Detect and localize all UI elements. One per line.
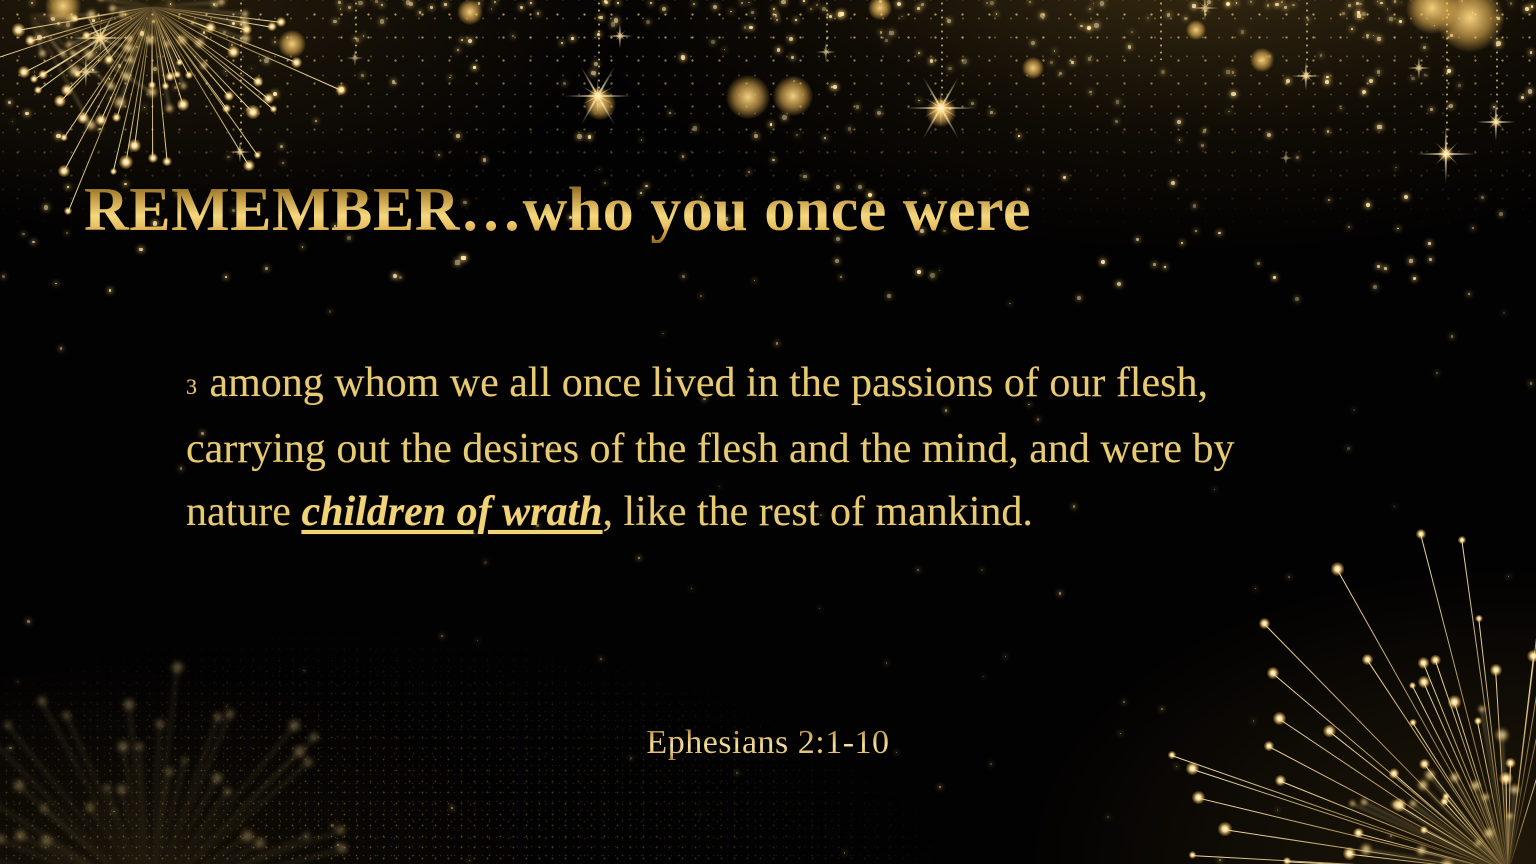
gold-particle: [776, 342, 779, 345]
gold-particle: [1428, 242, 1431, 245]
hanging-thread: [598, 0, 600, 96]
gold-particle: [1059, 72, 1062, 75]
gold-particle: [887, 294, 891, 298]
gold-particle: [101, 20, 102, 21]
gold-particle: [1472, 227, 1474, 229]
gold-particle: [810, 8, 812, 10]
hanging-thread: [1496, 0, 1498, 120]
gold-particle: [174, 86, 177, 89]
gold-particle: [981, 569, 983, 571]
gold-particle: [1179, 139, 1181, 141]
gold-particle: [617, 2, 619, 4]
gold-particle: [231, 44, 233, 46]
gold-particle: [461, 39, 463, 41]
gold-particle: [520, 6, 523, 9]
gold-particle: [274, 41, 276, 43]
gold-particle: [819, 608, 820, 609]
gold-particle: [599, 169, 600, 170]
gold-particle: [1292, 4, 1294, 6]
gold-particle: [1257, 262, 1260, 265]
gold-particle: [646, 20, 650, 24]
gold-particle: [2, 275, 5, 278]
gold-particle: [840, 276, 841, 277]
gold-particle: [1054, 50, 1056, 52]
gold-particle: [1268, 55, 1271, 58]
gold-particle: [741, 2, 743, 4]
bokeh-glow-icon: [773, 76, 813, 116]
bokeh-glow-icon: [278, 30, 306, 58]
gold-particle: [730, 11, 732, 13]
gold-particle: [1531, 5, 1534, 8]
gold-particle: [353, 38, 354, 39]
bokeh-glow-icon: [926, 97, 956, 127]
gold-particle: [153, 67, 157, 71]
gold-particle: [693, 126, 697, 130]
gold-particle: [1384, 267, 1387, 270]
gold-particle: [170, 3, 172, 5]
gold-particle: [1080, 25, 1083, 28]
gold-particle: [1161, 70, 1165, 74]
gold-particle: [1413, 277, 1416, 280]
gold-particle: [1411, 77, 1415, 81]
gold-particle: [1430, 108, 1432, 110]
gold-particle: [329, 310, 332, 313]
gold-particle: [180, 467, 183, 470]
gold-particle: [597, 33, 600, 36]
gold-particle: [700, 295, 703, 298]
gold-particle: [1373, 35, 1374, 36]
gold-particle: [897, 2, 901, 6]
gold-particle: [340, 8, 342, 10]
gold-particle: [917, 569, 919, 571]
verse-highlight-children-of-wrath: children of wrath: [301, 489, 602, 535]
gold-particle: [1219, 859, 1222, 862]
gold-particle: [1434, 25, 1435, 26]
hanging-thread: [240, 0, 242, 150]
bokeh-glow-icon: [1186, 20, 1206, 40]
gold-particle: [333, 20, 336, 23]
gold-particle: [226, 706, 227, 707]
gold-particle: [113, 811, 115, 813]
gold-particle: [1147, 17, 1149, 19]
gold-particle: [399, 276, 402, 279]
gold-particle: [650, 2, 652, 4]
hanging-thread: [1306, 0, 1308, 74]
gold-particle: [996, 13, 998, 15]
gold-particle: [962, 59, 966, 63]
gold-particle: [886, 662, 887, 663]
gold-particle: [1184, 17, 1187, 20]
gold-particle: [1380, 2, 1382, 4]
gold-particle: [1050, 61, 1052, 63]
gold-particle: [1255, 588, 1256, 589]
gold-particle: [773, 8, 775, 10]
gold-particle: [227, 156, 230, 159]
gold-particle: [563, 82, 566, 85]
gold-particle: [491, 8, 493, 10]
presentation-slide: REMEMBER…who you once were 3 among whom …: [0, 0, 1536, 864]
gold-particle: [1377, 37, 1382, 42]
gold-particle: [1201, 144, 1204, 147]
gold-particle: [1521, 96, 1524, 99]
gold-particle: [885, 39, 888, 42]
gold-particle: [1503, 312, 1505, 314]
gold-particle: [990, 763, 993, 766]
gold-particle: [795, 19, 797, 21]
gold-particle: [638, 557, 640, 559]
hanging-thread: [826, 0, 828, 52]
gold-particle: [67, 186, 69, 188]
gold-particle: [1429, 258, 1432, 261]
gold-particle: [1348, 226, 1350, 228]
gold-particle: [451, 807, 453, 809]
gold-particle: [614, 18, 618, 22]
gold-particle: [990, 111, 993, 114]
gold-particle: [265, 267, 268, 270]
gold-particle: [56, 134, 60, 138]
gold-particle: [1377, 70, 1380, 73]
gold-particle: [749, 26, 753, 30]
gold-particle: [921, 3, 924, 6]
gold-particle: [1192, 4, 1195, 7]
gold-particle: [880, 31, 882, 33]
gold-particle: [803, 0, 805, 2]
bokeh-glow-icon: [1436, 0, 1504, 52]
gold-particle: [55, 283, 57, 285]
gold-particle: [1009, 303, 1011, 305]
gold-particle: [1525, 7, 1529, 11]
gold-particle: [594, 62, 598, 66]
gold-particle: [1508, 576, 1509, 577]
gold-particle: [682, 155, 685, 158]
gold-particle: [444, 3, 447, 6]
gold-particle: [44, 205, 48, 209]
gold-particle: [125, 14, 126, 15]
gold-particle: [1101, 260, 1105, 264]
gold-particle: [669, 112, 672, 115]
gold-particle: [1087, 26, 1091, 30]
gold-particle: [789, 37, 794, 42]
gold-particle: [744, 26, 747, 29]
gold-particle: [1176, 766, 1178, 768]
gold-particle: [1203, 129, 1207, 133]
gold-particle: [57, 22, 60, 25]
gold-particle: [793, 80, 796, 83]
gold-particle: [1128, 45, 1132, 49]
gold-particle: [682, 275, 685, 278]
gold-particle: [1451, 335, 1453, 337]
gold-particle: [1100, 1, 1104, 5]
gold-particle: [1528, 89, 1533, 94]
gold-particle: [1228, 111, 1230, 113]
gold-particle: [1089, 91, 1092, 94]
gold-particle: [60, 347, 63, 350]
gold-particle: [530, 2, 532, 4]
gold-particle: [484, 561, 487, 564]
hanging-thread: [1446, 0, 1448, 152]
gold-particle: [1218, 232, 1221, 235]
gold-particle: [918, 100, 920, 102]
gold-particle: [1328, 199, 1330, 201]
hanging-thread: [941, 0, 943, 106]
gold-particle: [1424, 74, 1426, 76]
gold-particle: [468, 39, 472, 43]
gold-particle: [838, 12, 843, 17]
gold-particle: [109, 289, 112, 292]
gold-particle: [225, 71, 226, 72]
gold-particle: [1281, 1, 1283, 3]
gold-particle: [774, 14, 775, 15]
gold-particle: [1530, 382, 1533, 385]
gold-particle: [833, 85, 837, 89]
gold-particle: [1031, 41, 1035, 45]
gold-particle: [1288, 576, 1290, 578]
gold-particle: [781, 0, 785, 4]
gold-particle: [754, 280, 755, 281]
gold-particle: [776, 19, 778, 21]
gold-particle: [381, 4, 383, 6]
gold-particle: [604, 0, 607, 3]
gold-particle: [140, 31, 144, 35]
gold-particle: [213, 3, 216, 6]
gold-particle: [457, 49, 459, 51]
scripture-citation: Ephesians 2:1-10: [0, 724, 1536, 762]
gold-particle: [1458, 84, 1461, 87]
gold-particle: [770, 123, 773, 126]
gold-particle: [1326, 76, 1329, 79]
gold-particle: [1327, 130, 1330, 133]
gold-particle: [561, 42, 563, 44]
gold-particle: [1193, 204, 1196, 207]
gold-particle: [751, 11, 754, 14]
gold-particle: [1094, 23, 1098, 27]
gold-particle: [611, 22, 616, 27]
gold-particle: [577, 134, 582, 139]
gold-particle: [917, 7, 920, 10]
gold-particle: [438, 154, 440, 156]
gold-particle: [949, 108, 951, 110]
gold-particle: [512, 35, 514, 37]
gold-particle: [1351, 28, 1352, 29]
gold-particle: [1267, 133, 1271, 137]
gold-particle: [25, 112, 29, 116]
gold-particle: [1510, 2, 1513, 5]
gold-dust-icon-bottom: [0, 534, 1536, 864]
gold-particle: [1357, 14, 1361, 18]
gold-particle: [1167, 13, 1170, 16]
gold-particle: [1362, 90, 1366, 94]
gold-particle: [494, 1, 496, 3]
bokeh-glow-icon: [1022, 57, 1044, 79]
gold-particle: [1307, 18, 1310, 21]
gold-particle: [901, 16, 903, 18]
gold-particle: [1226, 70, 1230, 74]
gold-particle: [214, 3, 218, 7]
gold-particle: [92, 69, 94, 71]
gold-particle: [711, 40, 715, 44]
gold-particle: [361, 74, 364, 77]
gold-particle: [136, 46, 138, 48]
gold-particle: [27, 620, 30, 623]
gold-particle: [822, 7, 826, 11]
gold-particle: [1356, 2, 1359, 5]
gold-particle: [469, 860, 470, 861]
gold-particle: [66, 22, 71, 27]
gold-particle: [947, 19, 951, 23]
gold-particle: [1284, 6, 1286, 8]
gold-particle: [537, 12, 540, 15]
gold-particle: [1373, 285, 1377, 289]
gold-particle: [339, 87, 344, 92]
gold-particle: [1347, 447, 1350, 450]
gold-particle: [51, 17, 55, 21]
gold-particle: [816, 4, 818, 6]
gold-particle: [1181, 242, 1183, 244]
gold-particle: [1394, 0, 1397, 3]
gold-particle: [358, 1, 363, 6]
bokeh-glow-icon: [726, 75, 770, 119]
gold-particle: [1089, 8, 1091, 10]
gold-particle: [1296, 156, 1299, 159]
gold-particle: [1131, 31, 1133, 33]
gold-particle: [303, 670, 305, 672]
gold-particle: [662, 7, 666, 11]
gold-particle: [1499, 212, 1503, 216]
gold-particle: [302, 246, 303, 247]
gold-particle: [1071, 61, 1074, 64]
gold-particle: [282, 162, 285, 165]
gold-particle: [1123, 701, 1125, 703]
gold-particle: [588, 135, 591, 138]
verse-part-two: , like the rest of mankind.: [603, 489, 1033, 535]
gold-particle: [191, 22, 193, 24]
gold-particle: [273, 92, 277, 96]
gold-particle: [1401, 2, 1402, 3]
gold-particle: [441, 635, 443, 637]
gold-particle: [840, 12, 844, 16]
gold-particle: [1497, 17, 1500, 20]
gold-particle: [449, 77, 451, 79]
gold-particle: [225, 276, 227, 278]
gold-particle: [777, 48, 780, 51]
gold-particle: [1377, 125, 1381, 129]
gold-particle: [1273, 276, 1276, 279]
gold-particle: [461, 256, 465, 260]
gold-particle: [1232, 71, 1235, 74]
bokeh-glow-icon: [45, 0, 81, 24]
gold-particle: [1409, 259, 1413, 263]
gold-particle: [1161, 708, 1162, 709]
verse-number: 3: [186, 374, 199, 399]
gold-particle: [1088, 57, 1092, 61]
gold-particle: [848, 127, 852, 131]
gold-particle: [477, 640, 478, 641]
bokeh-glow-icon: [868, 0, 892, 20]
gold-particle: [1357, 11, 1360, 14]
gold-particle: [8, 101, 11, 104]
gold-particle: [971, 102, 974, 105]
gold-particle: [1171, 181, 1175, 185]
bokeh-glow-icon: [584, 88, 616, 120]
gold-particle: [31, 2, 33, 4]
bokeh-glow-icon: [1406, 0, 1458, 34]
gold-particle: [1353, 409, 1355, 411]
gold-particle: [363, 35, 365, 37]
gold-particle: [681, 55, 686, 60]
gold-particle: [754, 134, 758, 138]
gold-particle: [1253, 720, 1255, 722]
gold-particle: [990, 1, 994, 5]
gold-particle: [986, 2, 988, 4]
gold-particle: [829, 15, 832, 18]
gold-particle: [1005, 656, 1006, 657]
gold-particle: [419, 11, 421, 13]
gold-particle: [1136, 238, 1139, 241]
gold-particle: [1390, 835, 1392, 837]
gold-particle: [1530, 51, 1533, 54]
gold-particle: [1116, 100, 1119, 103]
gold-particle: [939, 270, 941, 272]
gold-particle: [1063, 176, 1066, 179]
gold-particle: [662, 333, 664, 335]
gold-particle: [736, 772, 738, 774]
gold-particle: [917, 270, 922, 275]
gold-particle: [32, 241, 35, 244]
gold-particle: [1231, 92, 1235, 96]
gold-particle: [591, 71, 596, 76]
gold-particle: [791, 56, 794, 59]
gold-particle: [1362, 12, 1366, 16]
gold-particle: [92, 19, 95, 22]
gold-particle: [118, 64, 121, 67]
gold-particle: [1286, 79, 1290, 83]
gold-particle: [1277, 809, 1278, 810]
gold-particle: [693, 3, 695, 5]
gold-particle: [772, 159, 774, 161]
gold-particle: [99, 128, 102, 131]
gold-particle: [700, 814, 701, 815]
gold-particle: [1226, 2, 1230, 6]
gold-particle: [22, 233, 24, 235]
gold-particle: [724, 49, 726, 51]
gold-particle: [641, 139, 643, 141]
gold-particle: [356, 38, 359, 41]
gold-particle: [337, 844, 339, 846]
gold-particle: [34, 71, 36, 73]
gold-particle: [1369, 79, 1373, 83]
gold-particle: [831, 86, 834, 89]
gold-particle: [1461, 0, 1463, 2]
gold-particle: [456, 134, 460, 138]
gold-particle: [1040, 13, 1045, 18]
gold-particle: [599, 16, 603, 20]
gold-particle: [1342, 12, 1345, 15]
gold-particle: [605, 1, 608, 4]
gold-particle: [1404, 195, 1408, 199]
gold-particle: [110, 97, 111, 98]
gold-particle: [223, 31, 226, 34]
gold-particle: [375, 0, 378, 3]
gold-particle: [1059, 592, 1062, 595]
gold-particle: [713, 5, 717, 9]
gold-particle: [280, 145, 283, 148]
gold-particle: [1164, 266, 1165, 267]
gold-particle: [1241, 30, 1244, 33]
gold-particle: [17, 681, 18, 682]
gold-particle: [879, 0, 882, 3]
gold-particle: [877, 111, 881, 115]
gold-particle: [1447, 69, 1451, 73]
